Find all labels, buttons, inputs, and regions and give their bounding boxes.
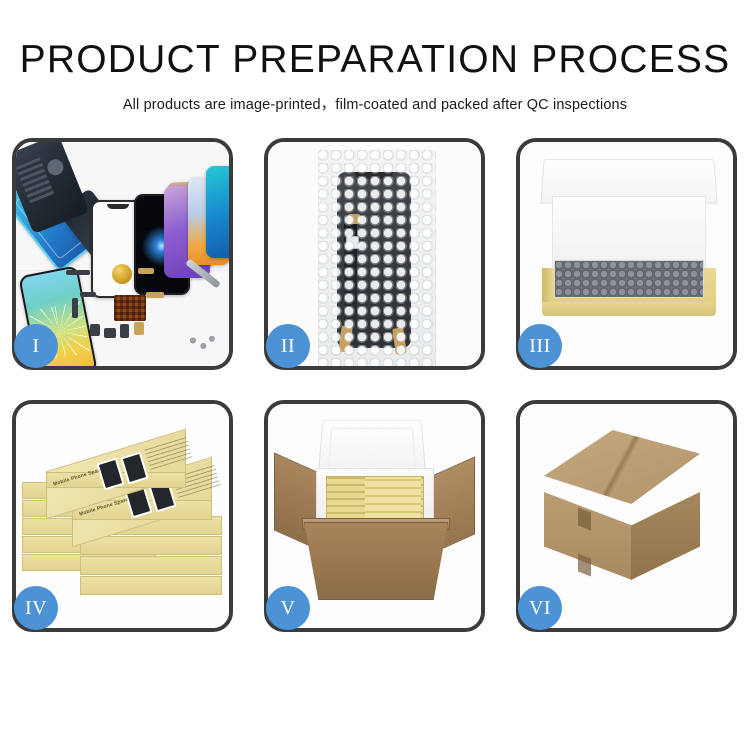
carton-front-face	[304, 522, 448, 600]
bubble-texture	[318, 150, 436, 366]
gold-component	[112, 264, 132, 284]
process-step-panel-2[interactable]: II	[264, 138, 485, 370]
small-part-flex-b	[80, 292, 96, 297]
stacked-box-r3	[80, 556, 222, 575]
page-title: PRODUCT PREPARATION PROCESS	[0, 40, 750, 81]
stacked-box-r2	[80, 536, 222, 555]
small-part-speaker	[66, 270, 90, 275]
bubble-wrapped-contents	[554, 260, 704, 298]
small-part-button	[104, 328, 116, 338]
process-step-panel-1[interactable]: I	[12, 138, 233, 370]
small-part-camera	[90, 324, 100, 336]
box-stack: Mobile Phone Spare Parts Mobile Phone Sp…	[22, 420, 228, 616]
process-step-panel-5[interactable]: V	[264, 400, 485, 632]
step-badge-4: IV	[14, 586, 58, 630]
page-subtitle: All products are image-printed，film-coat…	[0, 93, 750, 114]
yellow-inner-box-front	[542, 302, 716, 316]
flex-cable-b	[146, 292, 164, 298]
process-step-panel-6[interactable]: VI	[516, 400, 737, 632]
process-step-panel-3[interactable]: III	[516, 138, 737, 370]
step-badge-3: III	[518, 324, 562, 368]
process-step-panel-4[interactable]: Mobile Phone Spare Parts Mobile Phone Sp…	[12, 400, 233, 632]
step-badge-6: VI	[518, 586, 562, 630]
small-part-bracket	[120, 324, 129, 338]
step-badge-2: II	[266, 324, 310, 368]
step-badge-1: I	[14, 324, 58, 368]
process-step-grid: I II III	[12, 138, 738, 632]
connector-chip-grid	[114, 295, 146, 321]
screws-group	[189, 334, 215, 350]
small-part-flex-a	[72, 298, 78, 318]
step-badge-5: V	[266, 586, 310, 630]
bubble-wrap-bag	[318, 150, 436, 366]
teal-phone-display	[206, 166, 229, 258]
flex-cable-a	[138, 268, 154, 274]
stacked-box-r4	[80, 576, 222, 595]
flex-cable-c	[134, 322, 144, 335]
yellow-boxes-inside	[326, 476, 424, 520]
page-header: PRODUCT PREPARATION PROCESS All products…	[0, 0, 750, 114]
